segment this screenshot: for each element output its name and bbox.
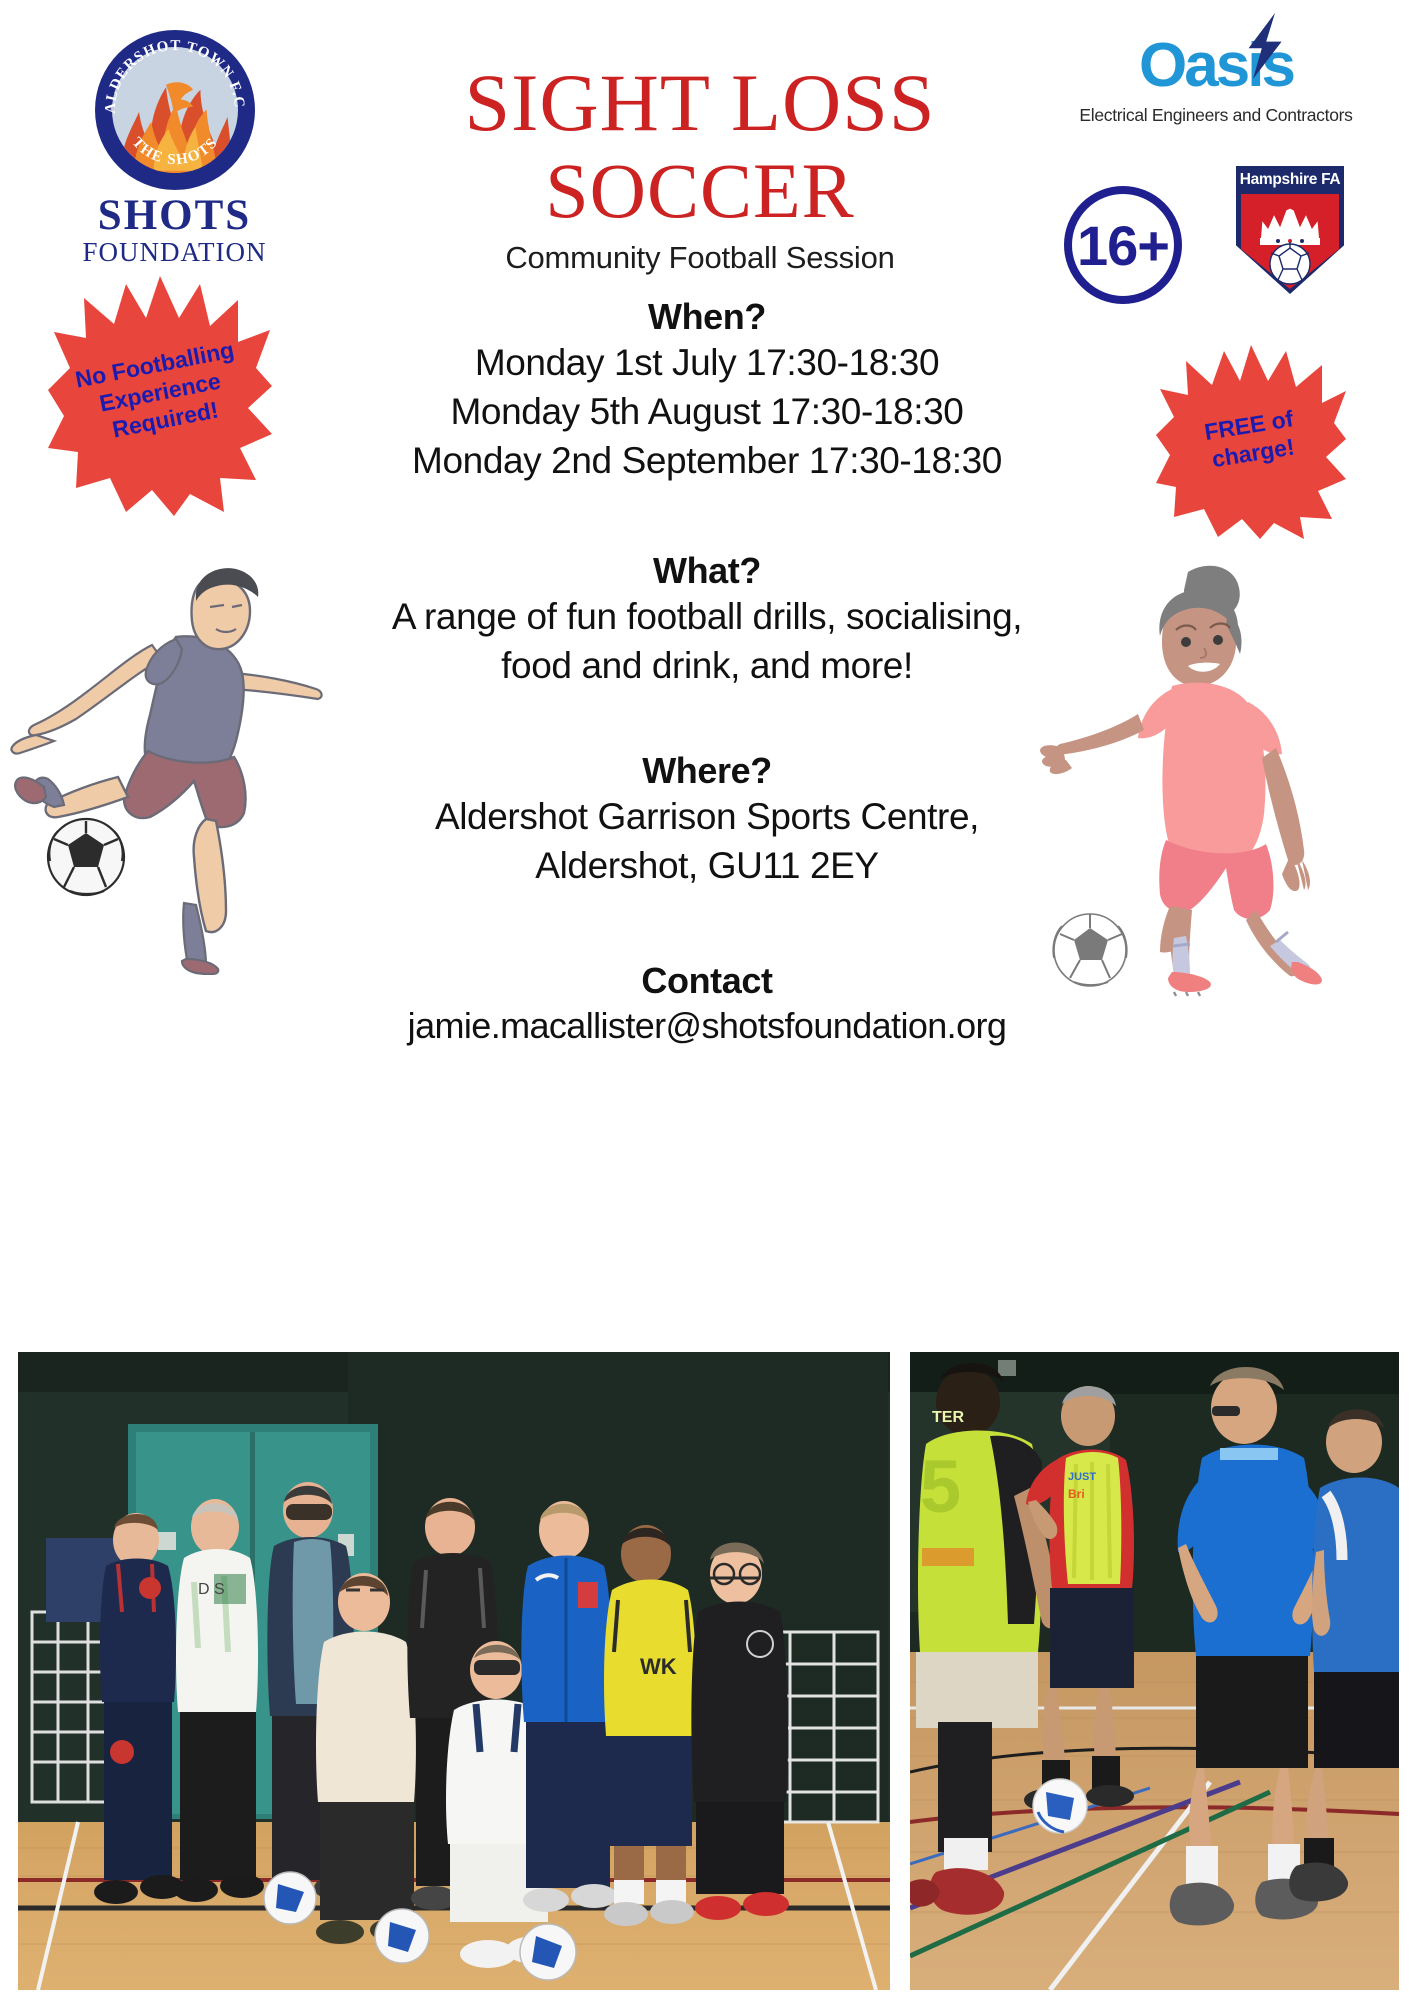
oasis-sponsor-logo: Oasis Electrical Engineers and Contracto… — [1046, 35, 1386, 126]
svg-text:ALDERSHOT TOWN F.C.: ALDERSHOT TOWN F.C. — [95, 30, 247, 114]
free-of-charge-badge: FREE of charge! — [1156, 339, 1346, 539]
group-team-photo: D S — [18, 1352, 890, 1990]
poster-title: SIGHT LOSS SOCCER — [300, 60, 1100, 236]
age-16-plus-badge: 16+ — [1064, 186, 1182, 304]
match-action-photo-image: TER 5 JUST Bri — [910, 1352, 1399, 1990]
aldershot-town-crest-icon: ALDERSHOT TOWN F.C. THE SHOTS — [95, 30, 255, 190]
football-icon — [48, 819, 124, 895]
svg-text:D S: D S — [198, 1581, 225, 1598]
contact-email[interactable]: jamie.macallister@shotsfoundation.org — [230, 1002, 1184, 1050]
match-action-photo: TER 5 JUST Bri — [910, 1352, 1399, 1990]
poster: ALDERSHOT TOWN F.C. THE SHOTS SHOTS FOUN… — [0, 0, 1414, 2000]
svg-text:Bri: Bri — [1068, 1487, 1085, 1501]
when-line-3: Monday 2nd September 17:30-18:30 — [230, 436, 1184, 485]
title-line-2: SOCCER — [300, 146, 1100, 236]
svg-text:TER: TER — [932, 1409, 964, 1426]
club-name: SHOTS — [52, 194, 297, 238]
hampshire-fa-badge: Hampshire FA — [1236, 166, 1344, 294]
svg-text:5: 5 — [920, 1445, 961, 1528]
when-heading: When? — [230, 296, 1184, 338]
female-player-dribbling-icon — [1040, 558, 1370, 998]
when-line-1: Monday 1st July 17:30-18:30 — [230, 338, 1184, 387]
group-team-photo-image: D S — [18, 1352, 890, 1990]
crest-ring-text: ALDERSHOT TOWN F.C. THE SHOTS — [95, 30, 255, 190]
oasis-wordmark: Oasis — [1046, 35, 1386, 101]
svg-text:JUST: JUST — [1068, 1471, 1096, 1483]
title-line-1: SIGHT LOSS — [300, 60, 1100, 146]
oasis-tagline: Electrical Engineers and Contractors — [1046, 105, 1386, 126]
when-line-2: Monday 5th August 17:30-18:30 — [230, 387, 1184, 436]
when-section: When? Monday 1st July 17:30-18:30 Monday… — [230, 296, 1184, 486]
football-icon — [1053, 914, 1126, 986]
male-player-kicking-icon — [10, 555, 340, 975]
football-icon — [1033, 1779, 1087, 1833]
female-player-illustration — [1040, 558, 1370, 998]
football-icon — [1268, 242, 1312, 286]
svg-text:WK: WK — [640, 1654, 677, 1679]
svg-text:THE SHOTS: THE SHOTS — [128, 134, 221, 168]
poster-subtitle: Community Football Session — [300, 240, 1100, 276]
shots-foundation-logo: ALDERSHOT TOWN F.C. THE SHOTS SHOTS FOUN… — [52, 22, 297, 277]
age-badge-label: 16+ — [1064, 186, 1182, 304]
male-player-illustration — [10, 555, 340, 975]
hampshire-fa-label: Hampshire FA — [1236, 171, 1344, 189]
crown-icon — [1256, 204, 1324, 246]
lightning-bolt-icon — [1242, 13, 1286, 79]
